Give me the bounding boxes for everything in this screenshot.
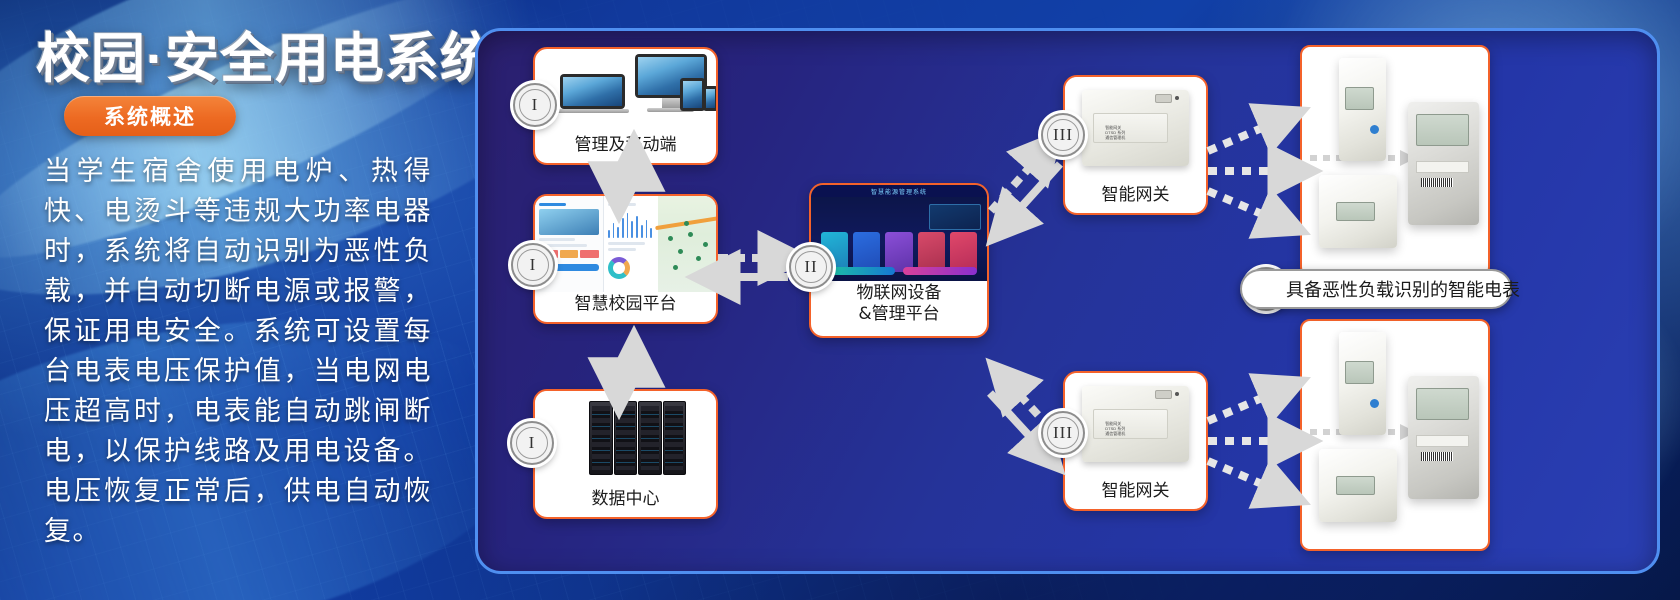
badge-gateway-bottom-label: III <box>1053 423 1073 443</box>
architecture-diagram-panel: 管理及移动端 I <box>475 28 1660 574</box>
section-badge-system-overview: 系统概述 <box>64 96 236 136</box>
label-smart-meters-text: 具备恶性负载识别的智能电表 <box>1286 276 1520 302</box>
arrow-campus-datacenter <box>619 359 634 386</box>
arrow-iot-gateway-top <box>991 151 1060 224</box>
badge-smart-campus-label: I <box>530 255 537 275</box>
badge-gateway-bottom: III <box>1041 411 1085 455</box>
badge-admin-mobile-label: I <box>532 95 539 115</box>
badge-iot-platform: II <box>789 245 833 289</box>
left-text-column: 校园·安全用电系统 系统概述 当学生宿舍使用电炉、热得快、电烫斗等违规大功率电器… <box>0 0 470 600</box>
arrow-admin-campus <box>619 163 634 190</box>
label-smart-meters: 具备恶性负载识别的智能电表 <box>1240 269 1512 309</box>
page-title: 校园·安全用电系统 <box>36 14 495 93</box>
system-overview-paragraph: 当学生宿舍使用电炉、热得快、电烫斗等违规大功率电器时，系统将自动识别为恶性负载，… <box>44 152 432 552</box>
badge-iot-platform-label: II <box>804 257 817 277</box>
badge-data-center: I <box>510 421 554 465</box>
arrow-campus-iot <box>715 258 788 277</box>
arrow-gateway-bottom-to-meters <box>1208 389 1293 493</box>
badge-smart-campus: I <box>511 243 555 287</box>
arrow-gateway-top-to-meters <box>1208 119 1293 223</box>
badge-admin-mobile: I <box>513 83 557 127</box>
badge-gateway-top-label: III <box>1053 125 1073 145</box>
poster-canvas: 校园·安全用电系统 系统概述 当学生宿舍使用电炉、热得快、电烫斗等违规大功率电器… <box>0 0 1680 600</box>
badge-gateway-top: III <box>1041 113 1085 157</box>
badge-data-center-label: I <box>529 433 536 453</box>
